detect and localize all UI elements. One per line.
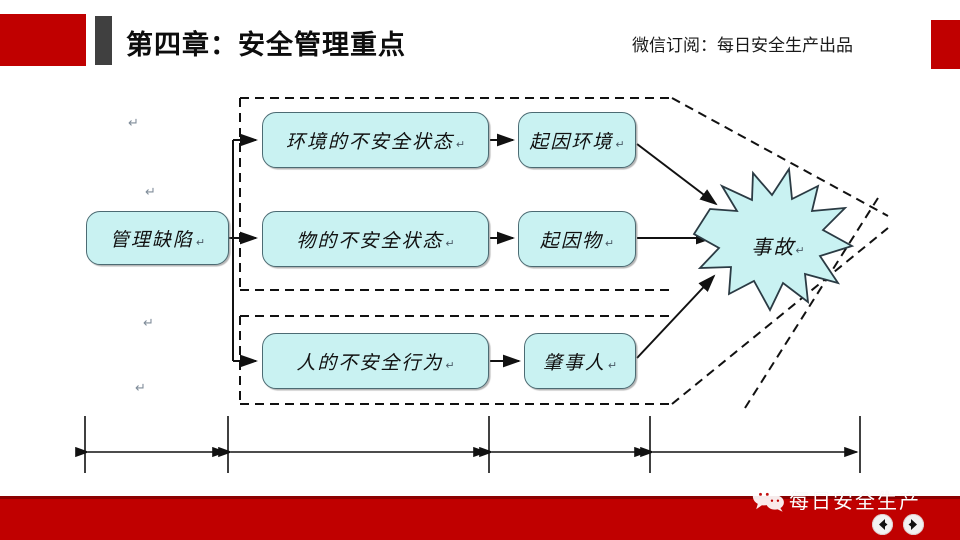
wechat-icon — [752, 486, 786, 512]
node-unsafe-environment-state[interactable]: 环境的不安全状态↵ — [262, 112, 489, 168]
node-management-defect[interactable]: 管理缺陷↵ — [86, 211, 229, 265]
accident-starburst — [694, 169, 852, 310]
node-unsafe-object-state[interactable]: 物的不安全状态↵ — [262, 211, 489, 267]
accident-trajectory-diagram: 管理缺陷↵ 环境的不安全状态↵ 物的不安全状态↵ 人的不安全行为↵ 起因环境↵ … — [0, 78, 960, 478]
stray-pilcrow-mark: ↵ — [128, 116, 139, 131]
header-gray-bar — [95, 16, 112, 65]
arrow-cenv-to-accident — [637, 144, 716, 204]
slide-canvas: 第四章：安全管理重点 微信订阅：每日安全生产出品 — [0, 0, 960, 540]
header-red-block-right — [931, 20, 960, 69]
header-subscription-note: 微信订阅：每日安全生产出品 — [632, 31, 853, 56]
stray-pilcrow-mark: ↵ — [143, 316, 154, 331]
arrow-right-icon — [907, 518, 920, 531]
node-perpetrator[interactable]: 肇事人↵ — [524, 333, 636, 389]
stray-pilcrow-mark: ↵ — [145, 185, 156, 200]
footer-brand-label: 每日安全生产 — [789, 485, 921, 514]
stray-pilcrow-mark: ↵ — [135, 381, 146, 396]
node-unsafe-human-behavior[interactable]: 人的不安全行为↵ — [262, 333, 489, 389]
header-red-block-left — [0, 14, 86, 66]
prev-slide-button[interactable] — [872, 514, 893, 535]
page-title: 第四章：安全管理重点 — [126, 23, 406, 62]
next-slide-button[interactable] — [903, 514, 924, 535]
arrow-left-icon — [876, 518, 889, 531]
node-causal-environment[interactable]: 起因环境↵ — [518, 112, 636, 168]
node-causal-object[interactable]: 起因物↵ — [518, 211, 636, 267]
